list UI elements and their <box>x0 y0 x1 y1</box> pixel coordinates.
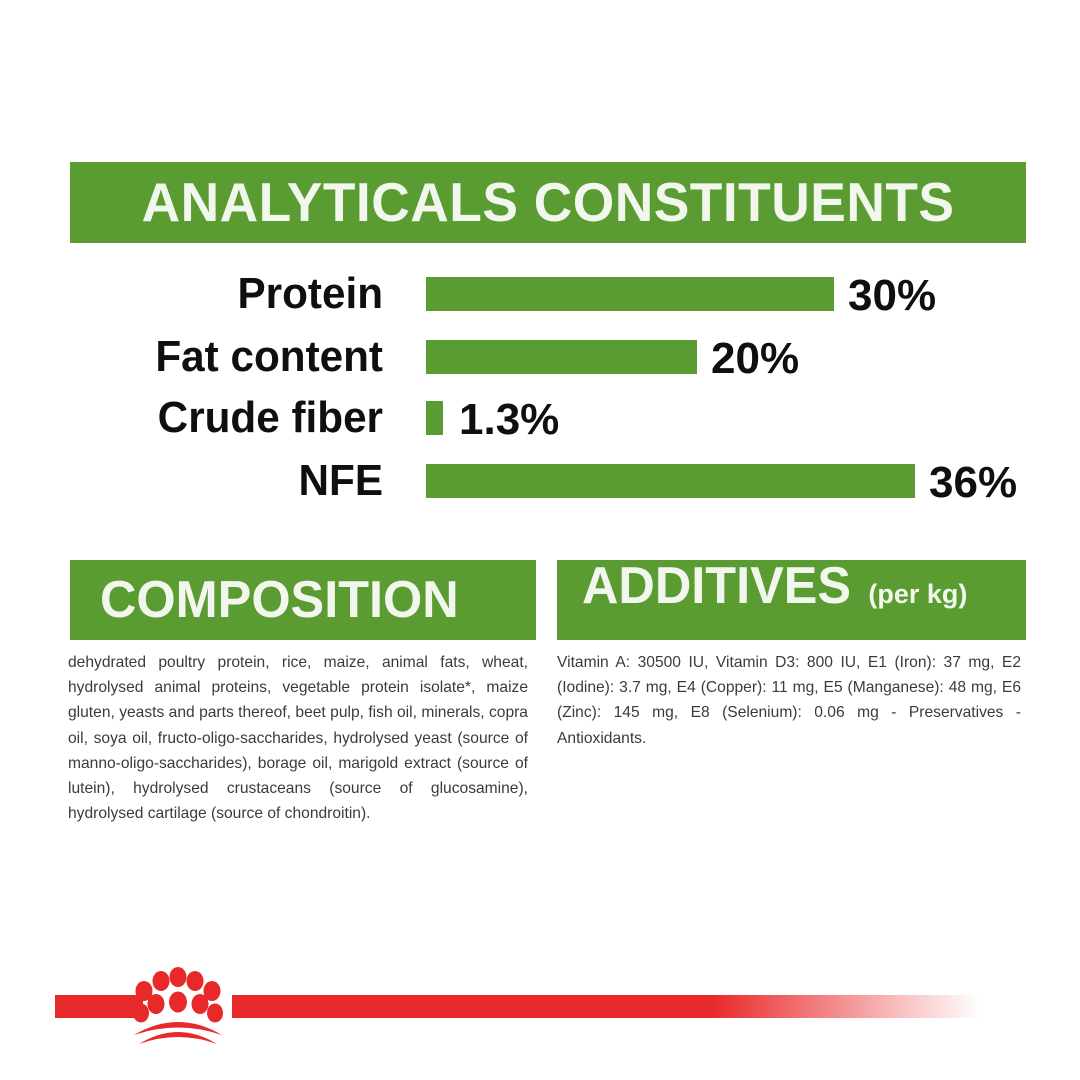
additives-heading-unit: (per kg) <box>868 581 967 608</box>
composition-body-text: dehydrated poultry protein, rice, maize,… <box>68 650 528 826</box>
bar-label-protein: Protein <box>73 272 383 316</box>
bar-value-nfe: 36% <box>929 461 1017 505</box>
bar-fill-crude-fiber <box>426 401 443 435</box>
nutrition-panel: ANALYTICALS CONSTITUENTS Protein 30% Fat… <box>0 0 1080 1080</box>
chart-row-fat-content: Fat content 20% <box>0 332 1080 382</box>
royal-canin-crown-icon <box>120 963 235 1048</box>
analyticals-heading: ANALYTICALS CONSTITUENTS <box>142 175 955 230</box>
additives-heading-group: ADDITIVES (per kg) <box>582 560 1026 640</box>
chart-row-protein: Protein 30% <box>0 269 1080 319</box>
footer-brand-rule <box>0 955 1080 1080</box>
additives-heading: ADDITIVES <box>582 560 851 612</box>
bar-label-nfe: NFE <box>73 459 383 503</box>
bar-value-protein: 30% <box>848 274 936 318</box>
bar-label-fat-content: Fat content <box>73 335 383 379</box>
chart-row-nfe: NFE 36% <box>0 456 1080 506</box>
composition-heading: COMPOSITION <box>100 574 459 626</box>
chart-row-crude-fiber: Crude fiber 1.3% <box>0 393 1080 443</box>
bar-fill-protein <box>426 277 834 311</box>
bar-fill-nfe <box>426 464 915 498</box>
analyticals-header-band: ANALYTICALS CONSTITUENTS <box>70 162 1026 243</box>
bar-value-fat-content: 20% <box>711 337 799 381</box>
bar-value-crude-fiber: 1.3% <box>459 398 559 442</box>
bar-fill-fat-content <box>426 340 697 374</box>
footer-rule-right <box>232 995 980 1018</box>
analyticals-bar-chart: Protein 30% Fat content 20% Crude fiber … <box>0 262 1080 512</box>
additives-body-text: Vitamin A: 30500 IU, Vitamin D3: 800 IU,… <box>557 650 1021 751</box>
bar-label-crude-fiber: Crude fiber <box>73 396 383 440</box>
additives-header-band: ADDITIVES (per kg) <box>557 560 1026 640</box>
composition-header-band: COMPOSITION <box>70 560 536 640</box>
